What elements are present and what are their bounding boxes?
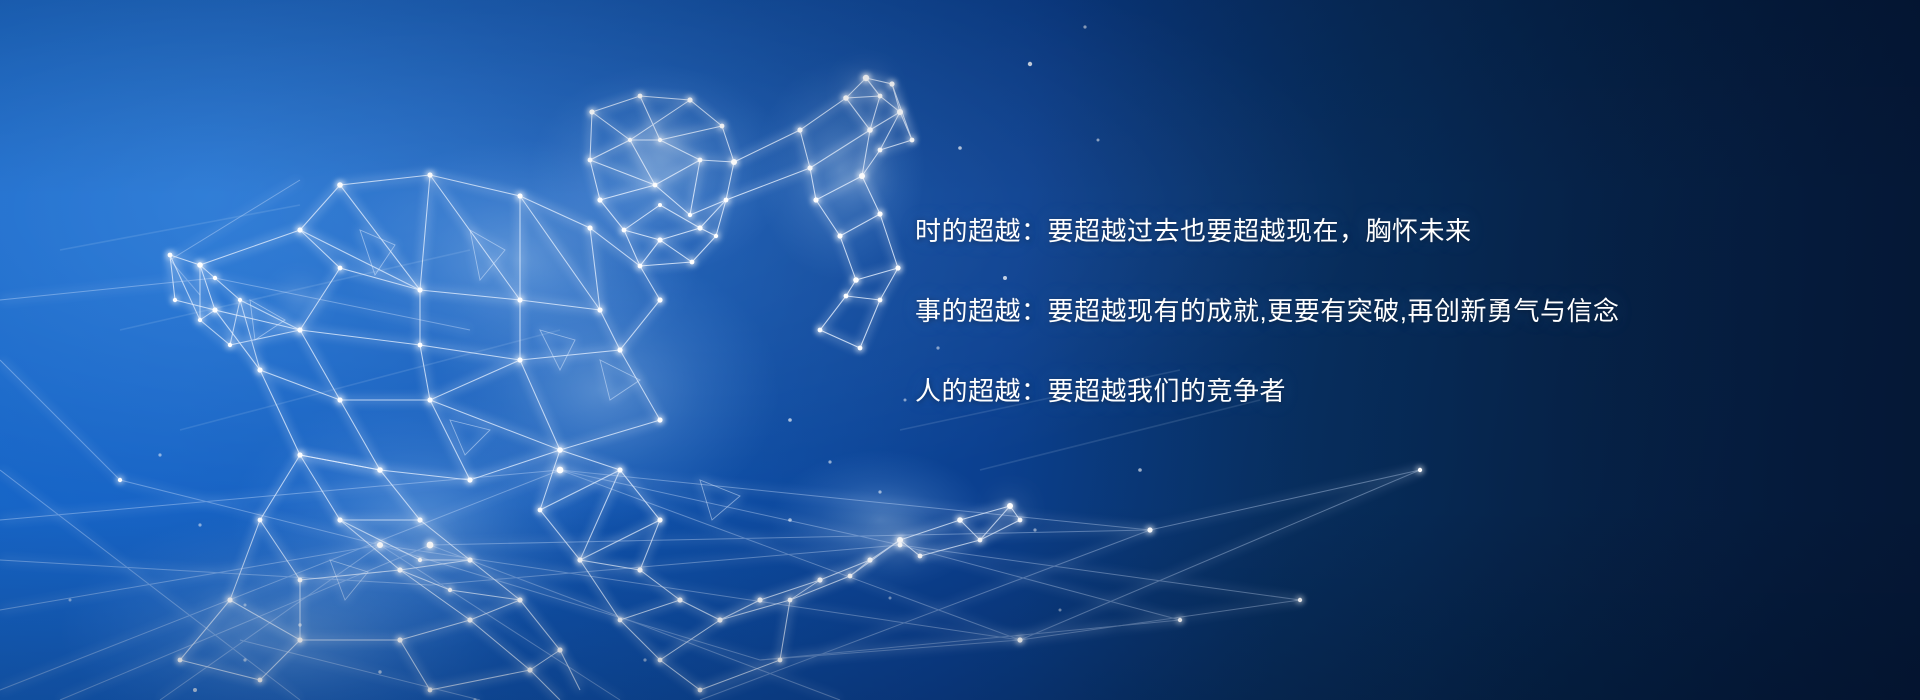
hero-banner: 时的超越：要超越过去也要超越现在，胸怀未来 事的超越：要超越现有的成就,更要有突… — [0, 0, 1920, 700]
tagline-time: 时的超越：要超越过去也要超越现在，胸怀未来 — [915, 218, 1815, 244]
tagline-group: 时的超越：要超越过去也要超越现在，胸怀未来 事的超越：要超越现有的成就,更要有突… — [915, 218, 1815, 404]
tagline-matter: 事的超越：要超越现有的成就,更要有突破,再创新勇气与信念 — [915, 298, 1815, 324]
tagline-people: 人的超越：要超越我们的竞争者 — [915, 378, 1815, 404]
